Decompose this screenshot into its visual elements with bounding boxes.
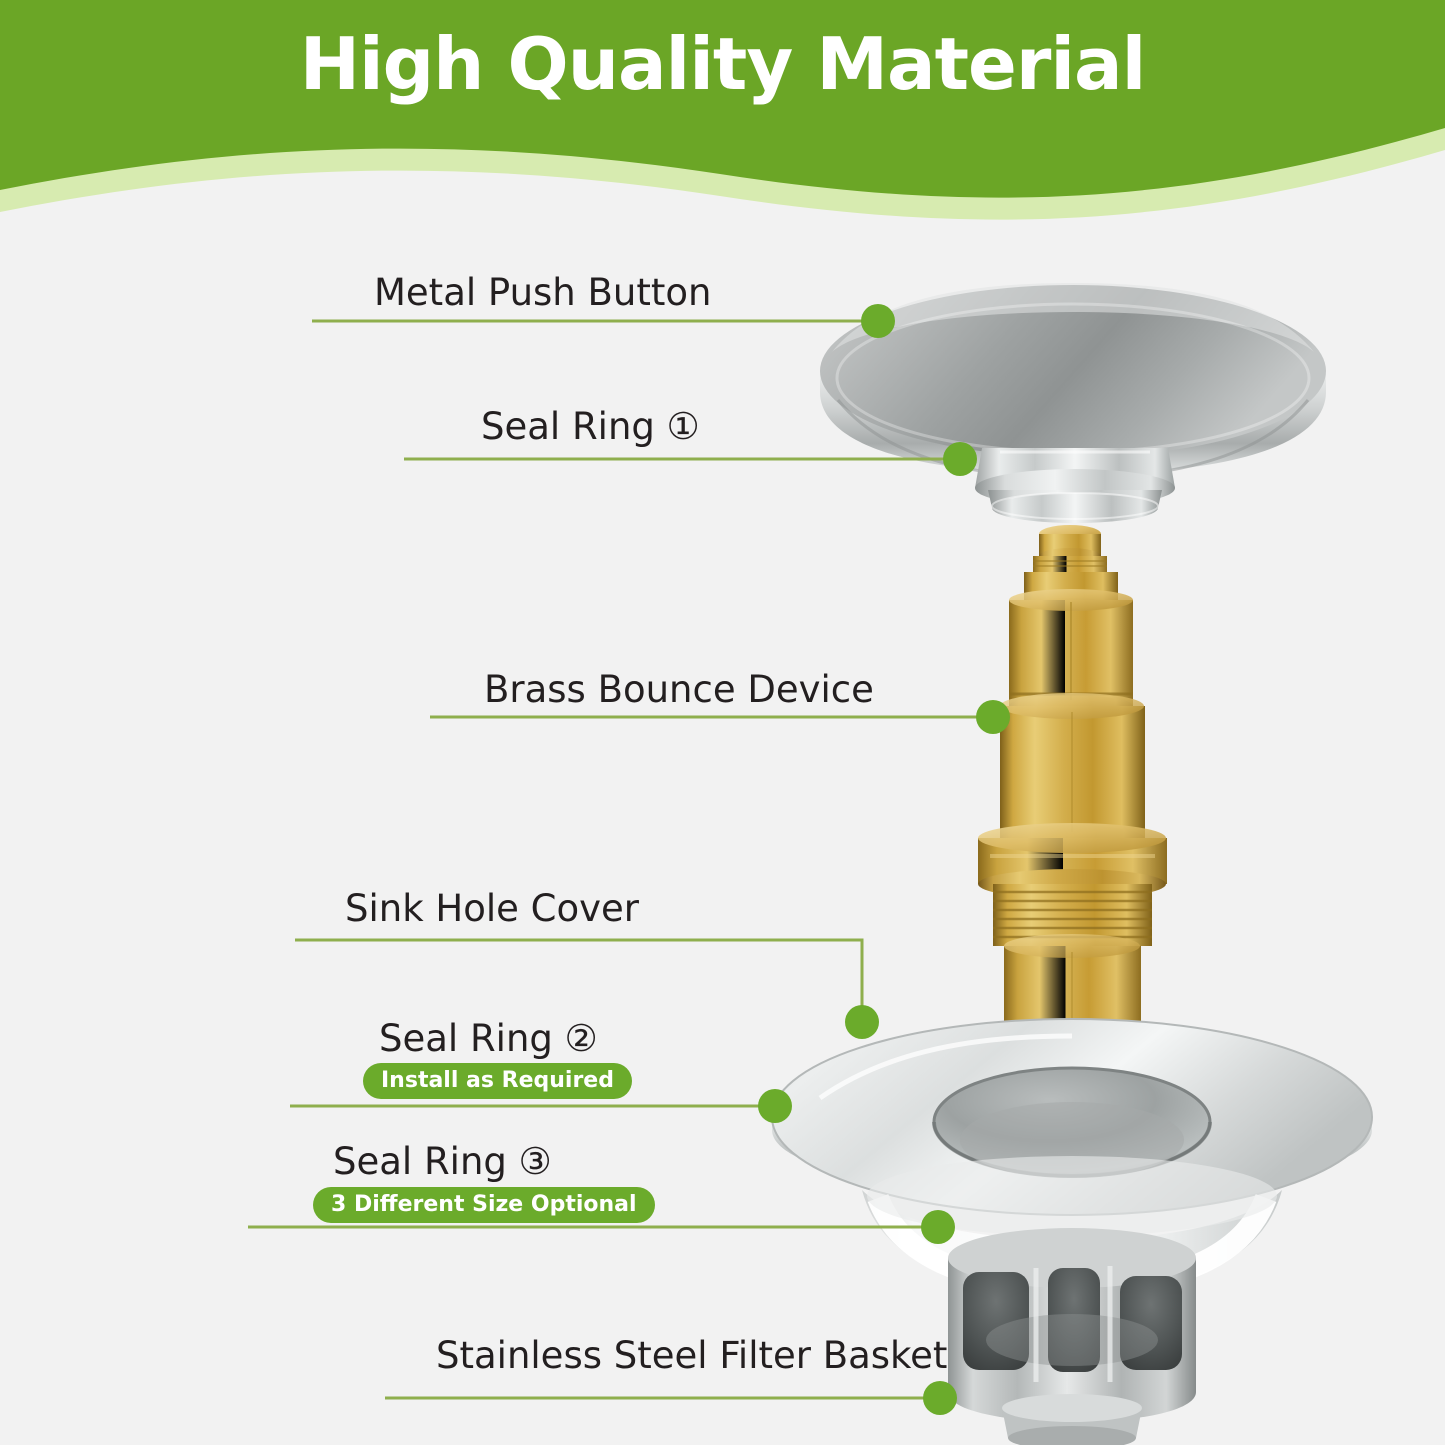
callout-label-sink-hole-cover: Sink Hole Cover xyxy=(345,890,639,929)
callout-label-metal-push-button: Metal Push Button xyxy=(374,274,711,313)
callout-badge-seal-ring-2: Install as Required xyxy=(363,1063,632,1099)
callout-label-seal-ring-3: Seal Ring ③ xyxy=(333,1143,552,1182)
callout-label-stainless-steel-filter-basket: Stainless Steel Filter Basket xyxy=(436,1337,947,1376)
callout-badge-seal-ring-3: 3 Different Size Optional xyxy=(313,1187,655,1223)
page-title: High Quality Material xyxy=(0,28,1445,100)
callout-label-seal-ring-1: Seal Ring ① xyxy=(481,408,700,447)
infographic-canvas: High Quality Material xyxy=(0,0,1445,1445)
callout-label-seal-ring-2: Seal Ring ② xyxy=(379,1020,598,1059)
callout-label-brass-bounce-device: Brass Bounce Device xyxy=(484,671,874,710)
header-banner: High Quality Material xyxy=(0,0,1445,225)
